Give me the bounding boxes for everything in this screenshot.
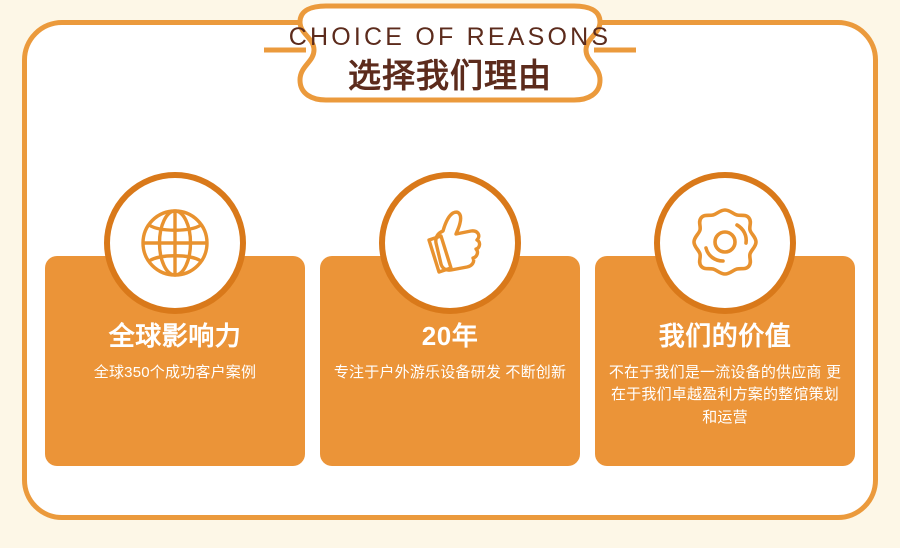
thumbs-up-badge: [379, 172, 521, 314]
globe-icon: [130, 198, 220, 288]
card-description: 专注于户外游乐设备研发 不断创新: [332, 362, 568, 385]
header-banner: CHOICE OF REASONS 选择我们理由: [264, 0, 636, 118]
card-body: 20年 专注于户外游乐设备研发 不断创新: [332, 322, 568, 384]
card-description: 全球350个成功客户案例: [57, 362, 293, 385]
card-body: 全球影响力 全球350个成功客户案例: [57, 322, 293, 384]
infographic-stage: CHOICE OF REASONS 选择我们理由 全球影响: [0, 0, 900, 548]
reason-card-our-value[interactable]: 我们的价值 不在于我们是一流设备的供应商 更在于我们卓越盈利方案的整馆策划和运营: [595, 256, 855, 466]
card-body: 我们的价值 不在于我们是一流设备的供应商 更在于我们卓越盈利方案的整馆策划和运营: [607, 322, 843, 429]
gear-badge: [654, 172, 796, 314]
reason-cards: 全球影响力 全球350个成功客户案例 20年 专注于户外游乐设备研发 不断创新: [45, 256, 855, 466]
card-title: 全球影响力: [57, 322, 293, 351]
globe-badge: [104, 172, 246, 314]
card-title: 20年: [332, 322, 568, 351]
card-description: 不在于我们是一流设备的供应商 更在于我们卓越盈利方案的整馆策划和运营: [607, 362, 843, 430]
thumbs-up-icon: [405, 198, 495, 288]
card-title: 我们的价值: [607, 322, 843, 351]
gear-icon: [680, 198, 770, 288]
reason-card-twenty-years[interactable]: 20年 专注于户外游乐设备研发 不断创新: [320, 256, 580, 466]
reason-card-global-influence[interactable]: 全球影响力 全球350个成功客户案例: [45, 256, 305, 466]
